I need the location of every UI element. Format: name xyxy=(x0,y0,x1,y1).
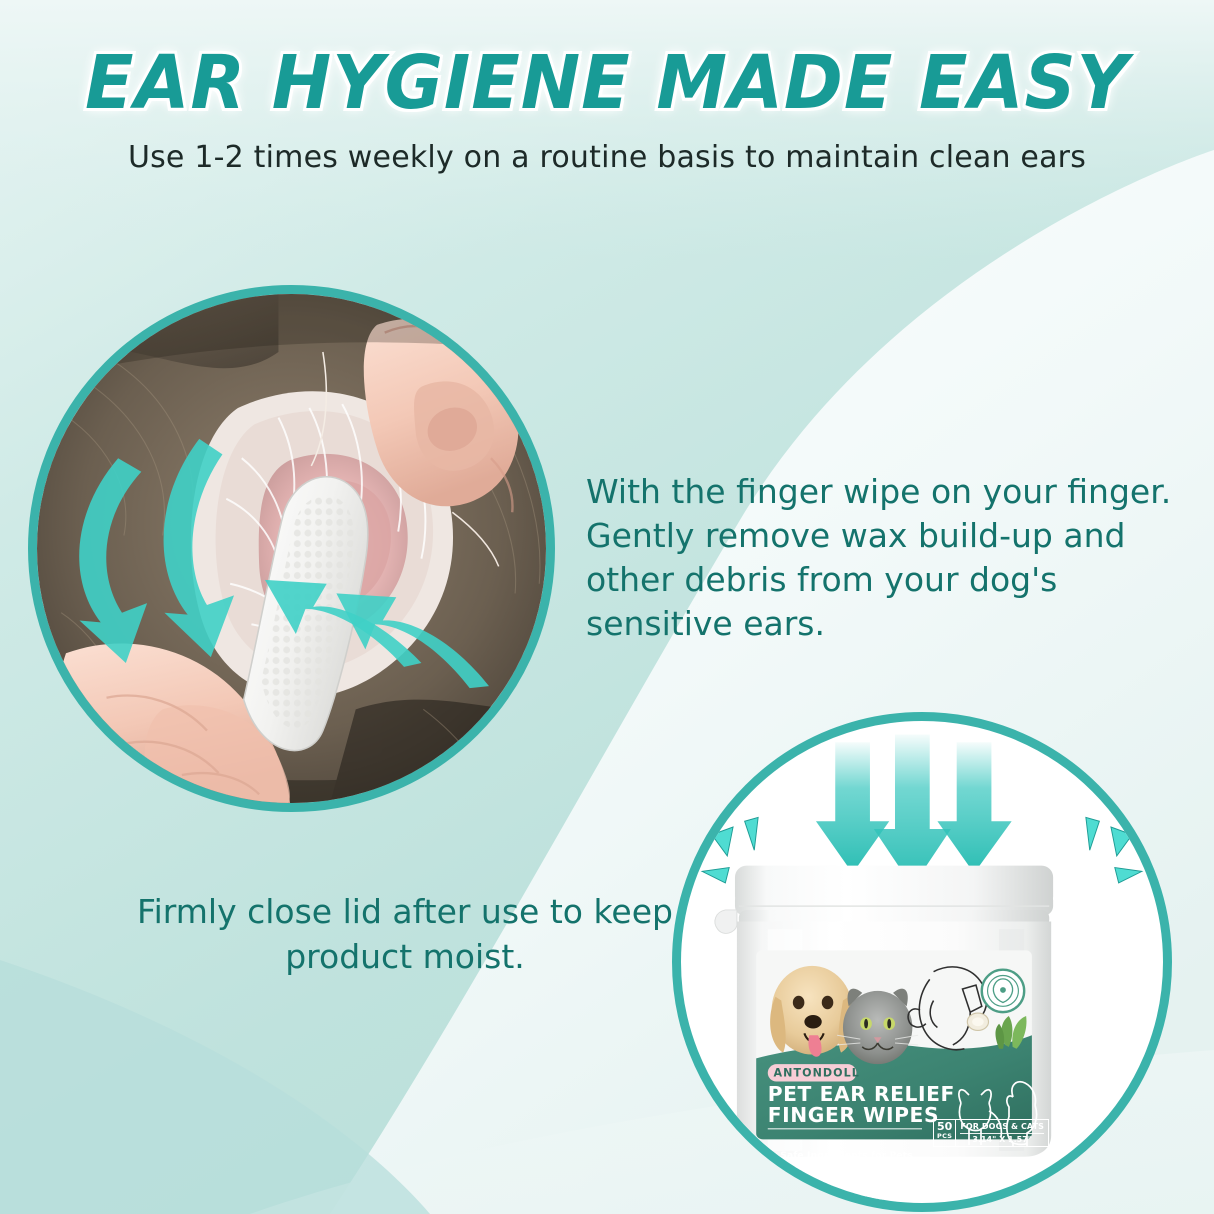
page-title: EAR HYGIENE MADE EASY xyxy=(24,0,1189,120)
brand-name: ANTONDOLL xyxy=(774,1067,860,1080)
product-label: ANTONDOLL PET EAR RELIEF FINGER WIPES xyxy=(756,950,1032,1139)
right-instruction-text: With the finger wipe on your finger. Gen… xyxy=(586,470,1206,646)
left-instruction-text: Firmly close lid after use to keep produ… xyxy=(120,890,690,979)
header: EAR HYGIENE MADE EASY Use 1-2 times week… xyxy=(0,0,1214,175)
certification-seal xyxy=(982,970,1024,1012)
brand-chip: ANTONDOLL xyxy=(768,1064,860,1081)
infographic-page: EAR HYGIENE MADE EASY Use 1-2 times week… xyxy=(0,0,1214,1214)
product-name-line2: FINGER WIPES xyxy=(768,1103,939,1127)
ear-cleaning-photo-circle xyxy=(28,285,555,812)
ear-cleaning-illustration xyxy=(37,294,546,803)
bottom-left-mint-arc xyxy=(0,960,430,1214)
coconut-icon xyxy=(967,1013,988,1030)
wipes-jar: ANTONDOLL PET EAR RELIEF FINGER WIPES xyxy=(715,866,1053,1157)
press-down-arrows xyxy=(816,734,1012,886)
product-jar-illustration: ANTONDOLL PET EAR RELIEF FINGER WIPES xyxy=(681,721,1163,1203)
product-jar-circle: ANTONDOLL PET EAR RELIEF FINGER WIPES • … xyxy=(672,712,1172,1212)
page-subtitle: Use 1-2 times weekly on a routine basis … xyxy=(0,120,1214,175)
